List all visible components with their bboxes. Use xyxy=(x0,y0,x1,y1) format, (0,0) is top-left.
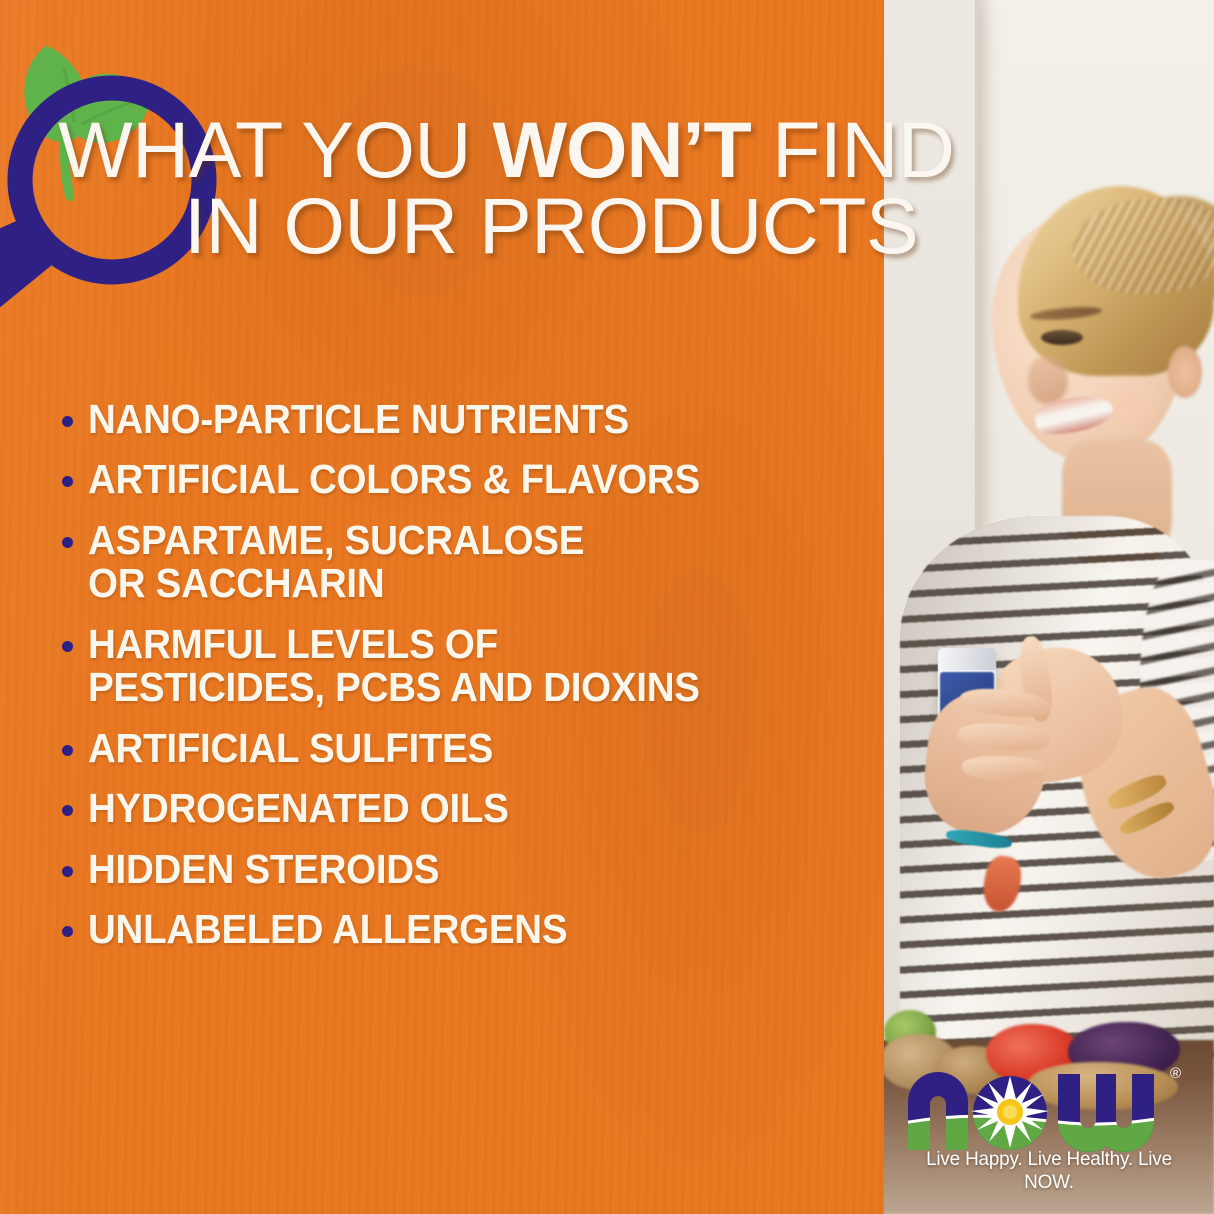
bullet-dot-icon xyxy=(62,866,73,877)
bullet-dot-icon xyxy=(62,805,73,816)
list-item-label: ASPARTAME, SUCRALOSE OR SACCHARIN xyxy=(88,519,584,606)
woman-ear xyxy=(1168,346,1202,398)
list-item-label: HIDDEN STEROIDS xyxy=(88,848,439,891)
list-item: NANO-PARTICLE NUTRIENTS xyxy=(62,398,862,441)
bullet-dot-icon xyxy=(62,537,73,548)
logo-tagline: Live Happy. Live Healthy. Live NOW. xyxy=(903,1148,1196,1194)
headline-line2: IN OUR PRODUCTS xyxy=(58,188,1188,264)
list-item: UNLABELED ALLERGENS xyxy=(62,908,862,951)
bullet-dot-icon xyxy=(62,745,73,756)
list-item-label: NANO-PARTICLE NUTRIENTS xyxy=(88,398,629,441)
list-item: ARTIFICIAL COLORS & FLAVORS xyxy=(62,458,862,501)
bullet-dot-icon xyxy=(62,641,73,652)
bullet-dot-icon xyxy=(62,416,73,427)
list-item: HIDDEN STEROIDS xyxy=(62,848,862,891)
now-foods-logo: ® Live Happy. Live Healthy. Live NOW. xyxy=(898,1062,1200,1198)
bullet-dot-icon xyxy=(62,476,73,487)
list-item: ARTIFICIAL SULFITES xyxy=(62,727,862,770)
list-item: HYDROGENATED OILS xyxy=(62,787,862,830)
list-item-label: UNLABELED ALLERGENS xyxy=(88,908,567,951)
promo-graphic: WHAT YOU WON’T FIND IN OUR PRODUCTS NANO… xyxy=(0,0,1214,1214)
list-item-label: HYDROGENATED OILS xyxy=(88,787,509,830)
woman-nose xyxy=(1028,356,1068,404)
list-item-label: ARTIFICIAL SULFITES xyxy=(88,727,493,770)
woman-eye xyxy=(1041,330,1083,345)
trademark-symbol: ® xyxy=(1170,1065,1181,1082)
list-item-label: ARTIFICIAL COLORS & FLAVORS xyxy=(88,458,700,501)
list-item-label: HARMFUL LEVELS OF PESTICIDES, PCBS AND D… xyxy=(88,623,700,710)
list-item: ASPARTAME, SUCRALOSE OR SACCHARIN xyxy=(62,519,862,606)
excluded-ingredients-list: NANO-PARTICLE NUTRIENTS ARTIFICIAL COLOR… xyxy=(62,398,862,969)
bullet-dot-icon xyxy=(62,926,73,937)
now-wordmark xyxy=(898,1062,1200,1158)
supplement-bottle-cap xyxy=(938,648,996,670)
list-item: HARMFUL LEVELS OF PESTICIDES, PCBS AND D… xyxy=(62,623,862,710)
page-title: WHAT YOU WON’T FIND IN OUR PRODUCTS xyxy=(58,112,1188,264)
